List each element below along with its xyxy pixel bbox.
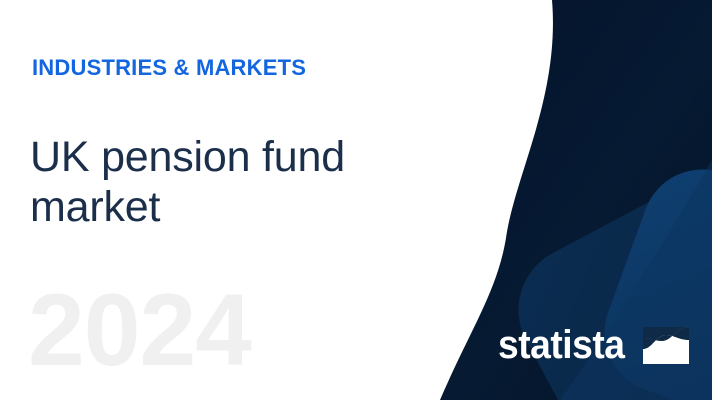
statista-report-cover: INDUSTRIES & MARKETS UK pension fund mar…	[0, 0, 712, 400]
category-kicker: INDUSTRIES & MARKETS	[32, 57, 306, 79]
statista-s-curve-icon	[643, 327, 689, 364]
statista-wordmark: statista	[498, 325, 625, 365]
cover-text-block: INDUSTRIES & MARKETS UK pension fund mar…	[32, 0, 432, 400]
report-year: 2024	[28, 279, 251, 381]
page-title: UK pension fund market	[30, 132, 430, 233]
statista-logo: statista	[498, 322, 689, 368]
